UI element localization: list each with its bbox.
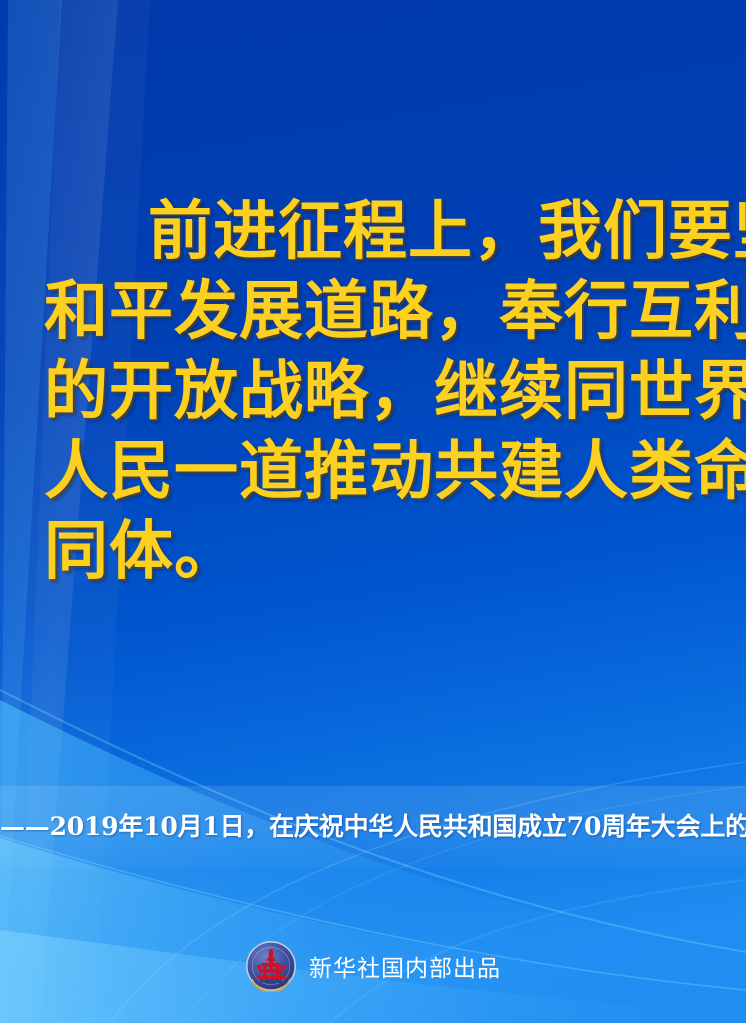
quote-line-3: 的开放战略，继续同世界各国 <box>44 352 712 432</box>
poster-canvas: 前进征程上，我们要坚持 和平发展道路，奉行互利共赢 的开放战略，继续同世界各国 … <box>0 0 746 1023</box>
quote-line-1: 前进征程上，我们要坚持 <box>44 192 712 272</box>
quote-block: 前进征程上，我们要坚持 和平发展道路，奉行互利共赢 的开放战略，继续同世界各国 … <box>44 192 712 592</box>
logo-ring-label: XINHUA <box>259 979 283 985</box>
footer: XINHUA 新华社国内部出品 <box>0 940 746 992</box>
attribution-text: ——2019年10月1日，在庆祝中华人民共和国成立70周年大会上的讲话 <box>0 810 746 844</box>
quote-line-4: 人民一道推动共建人类命运共 <box>44 432 712 512</box>
quote-line-5: 同体。 <box>44 512 712 592</box>
quote-line-2: 和平发展道路，奉行互利共赢 <box>44 272 712 352</box>
footer-label: 新华社国内部出品 <box>309 949 501 983</box>
xinhua-emblem-icon: XINHUA <box>245 940 297 992</box>
